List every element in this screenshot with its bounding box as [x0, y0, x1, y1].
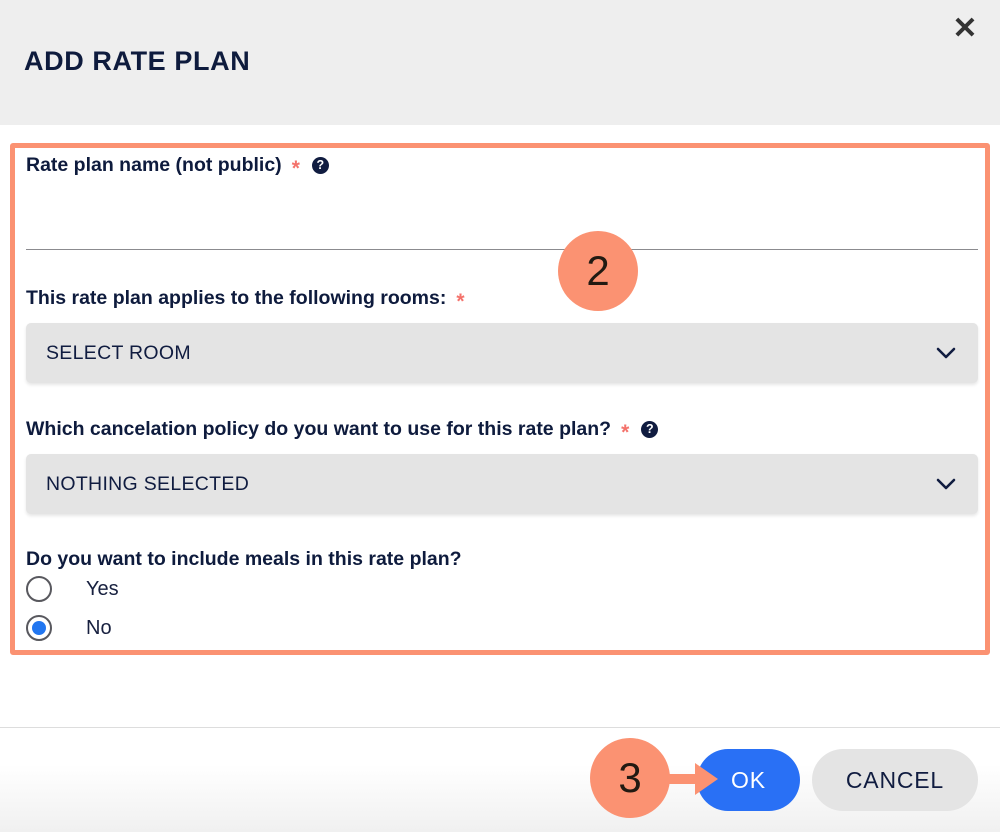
- help-icon[interactable]: ?: [641, 421, 658, 438]
- field-rooms: This rate plan applies to the following …: [26, 288, 978, 383]
- radio-label-yes: Yes: [86, 579, 119, 599]
- rooms-label-text: This rate plan applies to the following …: [26, 289, 446, 309]
- cancelation-policy-select[interactable]: NOTHING SELECTED: [26, 454, 978, 514]
- radio-icon-no: [26, 615, 52, 641]
- radio-icon-yes: [26, 576, 52, 602]
- meals-label-text: Do you want to include meals in this rat…: [26, 550, 462, 570]
- rate-plan-name-label: Rate plan name (not public) * ?: [26, 155, 978, 176]
- dialog-header: ADD RATE PLAN ✕: [0, 0, 1000, 125]
- chevron-down-icon: [936, 343, 956, 363]
- ok-button[interactable]: OK: [697, 749, 800, 811]
- chevron-down-icon: [936, 474, 956, 494]
- page-title: ADD RATE PLAN: [24, 46, 250, 77]
- rooms-select[interactable]: SELECT ROOM: [26, 323, 978, 383]
- add-rate-plan-dialog: ADD RATE PLAN ✕ 2 Rate plan name (not pu…: [0, 0, 1000, 832]
- help-icon[interactable]: ?: [312, 157, 329, 174]
- rate-plan-name-input[interactable]: [26, 190, 978, 250]
- required-asterisk: *: [292, 158, 300, 179]
- cancelation-policy-label: Which cancelation policy do you want to …: [26, 419, 978, 440]
- close-icon[interactable]: ✕: [948, 12, 982, 46]
- cancelation-policy-label-text: Which cancelation policy do you want to …: [26, 420, 611, 440]
- rooms-label: This rate plan applies to the following …: [26, 288, 978, 309]
- step-badge-3: 3: [590, 738, 670, 818]
- spacer: [26, 514, 978, 550]
- spacer: [26, 602, 978, 609]
- radio-label-no: No: [86, 618, 112, 638]
- cancel-button[interactable]: CANCEL: [812, 749, 978, 811]
- rooms-select-value: SELECT ROOM: [46, 342, 191, 365]
- field-cancelation-policy: Which cancelation policy do you want to …: [26, 419, 978, 514]
- dialog-body: 2 Rate plan name (not public) * ? This r…: [0, 125, 1000, 727]
- required-asterisk: *: [621, 422, 629, 443]
- rate-plan-name-label-text: Rate plan name (not public): [26, 156, 282, 176]
- cancelation-policy-select-value: NOTHING SELECTED: [46, 473, 249, 496]
- step-badge-2: 2: [558, 231, 638, 311]
- field-rate-plan-name: Rate plan name (not public) * ?: [26, 155, 978, 250]
- radio-selected-dot: [32, 621, 46, 635]
- field-meals: Do you want to include meals in this rat…: [26, 550, 978, 641]
- meals-label: Do you want to include meals in this rat…: [26, 550, 978, 570]
- rate-plan-form: Rate plan name (not public) * ? This rat…: [26, 155, 978, 641]
- spacer: [26, 383, 978, 419]
- required-asterisk: *: [456, 291, 464, 312]
- radio-option-yes[interactable]: Yes: [26, 576, 978, 602]
- dialog-footer: OK CANCEL: [0, 727, 1000, 832]
- radio-option-no[interactable]: No: [26, 615, 978, 641]
- spacer: [26, 250, 978, 288]
